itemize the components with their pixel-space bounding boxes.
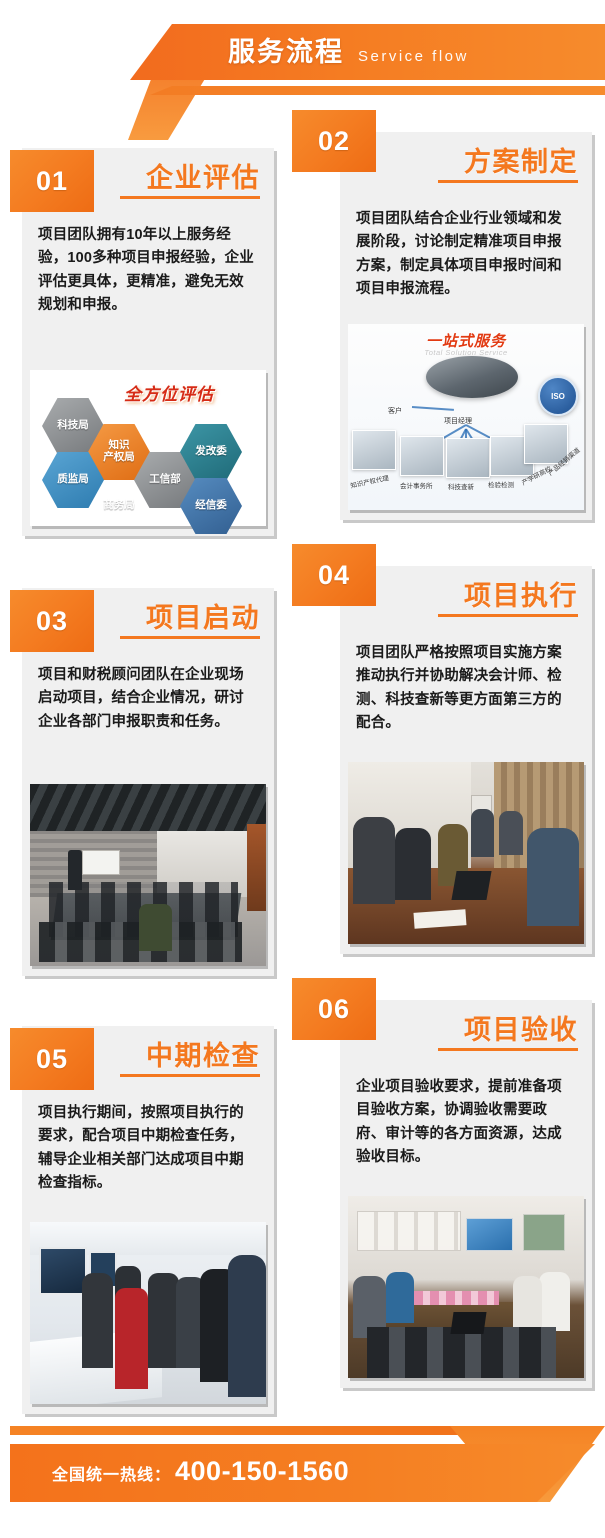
- oss-node-3: [446, 438, 490, 478]
- photo-presenter: [68, 850, 82, 890]
- photo-seated-left2: [386, 1272, 414, 1323]
- card-03-figure-photo: [30, 784, 266, 966]
- oss-bottom-label-2: 科技查新: [448, 481, 474, 491]
- card-05-title-rule: [120, 1074, 260, 1077]
- process-card-01[interactable]: 01 企业评估 项目团队拥有10年以上服务经验，100多种项目申报经验，企业评估…: [22, 148, 274, 536]
- photo-person-back1: [471, 809, 495, 856]
- process-card-02[interactable]: 02 方案制定 项目团队结合企业行业领域和发展阶段，讨论制定精准项目申报方案，制…: [340, 132, 592, 520]
- photo-projector-screen: [466, 1218, 513, 1251]
- card-05-title: 中期检查: [146, 1034, 260, 1073]
- card-06-title-rule: [438, 1048, 578, 1051]
- card-04-number-badge: 04: [292, 544, 376, 606]
- footer-hotline-number[interactable]: 400-150-1560: [175, 1456, 349, 1487]
- card-03-number-badge: 03: [10, 590, 94, 652]
- card-03-head: 03 项目启动: [22, 588, 274, 654]
- photo-wall-monitor: [39, 1247, 86, 1294]
- card-03-title-rule: [120, 636, 260, 639]
- photo-whiteboard: [82, 850, 120, 875]
- photo-laptop: [452, 871, 493, 900]
- card-06-title: 项目验收: [464, 1008, 578, 1047]
- oss-hub-photo: [426, 356, 518, 398]
- photo-person-left2: [395, 828, 430, 901]
- card-04-figure-photo: [348, 762, 584, 944]
- process-card-04[interactable]: 04 项目执行 项目团队严格按照项目实施方案推动执行并协助解决会计师、检测、科技…: [340, 566, 592, 954]
- card-05-body: 项目执行期间，按照项目执行的要求，配合项目中期检查任务，辅导企业相关部门达成项目…: [38, 1102, 256, 1196]
- card-05-figure-photo: [30, 1222, 266, 1404]
- card-03-title: 项目启动: [146, 596, 260, 635]
- card-04-body: 项目团队严格按照项目实施方案推动执行并协助解决会计师、检测、科技查新等更方面第三…: [356, 642, 574, 736]
- photo-seated-right2: [513, 1276, 541, 1331]
- photo-seated-right: [539, 1272, 570, 1330]
- oss-node-1: [352, 430, 396, 470]
- oss-bottom-label-1: 会计事务所: [400, 480, 433, 490]
- oss-certification-seal: ISO: [538, 376, 578, 416]
- card-02-title: 方案制定: [464, 140, 578, 179]
- card-04-head: 04 项目执行: [340, 566, 592, 632]
- card-03-body: 项目和财税顾问团队在企业现场启动项目，结合企业情况，研讨企业各部门申报职责和任务…: [38, 664, 256, 734]
- hex-diagram-title: 全方位评估: [124, 380, 214, 405]
- oss-bottom-label-3: 检验检测: [488, 479, 514, 489]
- oss-bottom-label-0: 知识产权代理: [349, 472, 389, 490]
- card-02-head: 02 方案制定: [340, 132, 592, 198]
- card-02-title-rule: [438, 180, 578, 183]
- process-card-06[interactable]: 06 项目验收 企业项目验收要求，提前准备项目验收方案，协调验收需要政府、审计等…: [340, 1000, 592, 1388]
- card-01-body: 项目团队拥有10年以上服务经验，100多种项目申报经验，企业评估更具体，更精准，…: [38, 224, 256, 318]
- card-06-figure-photo: [348, 1196, 584, 1378]
- footer-hotline-group: 全国统一热线： 400-150-1560: [52, 1456, 349, 1487]
- photo-green-board: [523, 1214, 565, 1250]
- header-title-en: Service flow: [358, 48, 469, 65]
- card-04-title: 项目执行: [464, 574, 578, 613]
- photo-person-back2: [499, 811, 523, 855]
- photo-wood-column: [247, 824, 266, 911]
- card-06-body: 企业项目验收要求，提前准备项目验收方案，协调验收需要政府、审计等的各方面资源，达…: [356, 1076, 574, 1170]
- card-06-number-badge: 06: [292, 978, 376, 1040]
- oss-node-2: [400, 436, 444, 476]
- card-02-body: 项目团队结合企业行业领域和发展阶段，讨论制定精准项目申报方案，制定具体项目申报时…: [356, 208, 574, 302]
- page-footer: 全国统一热线： 400-150-1560: [0, 1418, 605, 1528]
- header-title-group: 服务流程 Service flow: [228, 30, 469, 69]
- header-title-cn: 服务流程: [228, 30, 344, 69]
- oss-arrow-1: [412, 406, 454, 411]
- footer-hotline-label: 全国统一热线：: [52, 1461, 171, 1485]
- photo-visitor-center: [148, 1273, 179, 1368]
- photo-laptop-center: [450, 1312, 486, 1334]
- photo-person-left: [353, 817, 395, 904]
- card-02-figure-one-stop-service: 一站式服务 Total Solution Service 客户 项目经理 ISO…: [348, 324, 584, 510]
- photo-person-right: [527, 828, 579, 926]
- card-01-head: 01 企业评估: [22, 148, 274, 214]
- card-01-title-rule: [120, 196, 260, 199]
- photo-visitor-red-coat: [115, 1288, 148, 1390]
- photo-certificate-frames: [357, 1211, 461, 1251]
- card-02-number-badge: 02: [292, 110, 376, 172]
- header-underline-stripe: [150, 86, 605, 95]
- card-01-number-badge: 01: [10, 150, 94, 212]
- process-card-05[interactable]: 05 中期检查 项目执行期间，按照项目执行的要求，配合项目中期检查任务，辅导企业…: [22, 1026, 274, 1414]
- photo-visitor-right: [228, 1255, 266, 1397]
- photo-visitor-left: [82, 1273, 113, 1368]
- photo-chairs-foreground: [367, 1327, 556, 1378]
- card-01-figure-hex-diagram: 全方位评估 科技局 知识 产权局 质监局 商务局 工信部 发改委 经信委: [30, 370, 266, 526]
- oss-label-customer: 客户: [388, 406, 402, 416]
- photo-ceiling-panel: [30, 784, 266, 831]
- card-05-number-badge: 05: [10, 1028, 94, 1090]
- card-04-title-rule: [438, 614, 578, 617]
- photo-green-jacket-person: [139, 904, 172, 951]
- photo-flowers-row: [414, 1291, 499, 1306]
- card-01-title: 企业评估: [146, 156, 260, 195]
- process-card-03[interactable]: 03 项目启动 项目和财税顾问团队在企业现场启动项目，结合企业情况，研讨企业各部…: [22, 588, 274, 976]
- card-06-head: 06 项目验收: [340, 1000, 592, 1066]
- card-05-head: 05 中期检查: [22, 1026, 274, 1092]
